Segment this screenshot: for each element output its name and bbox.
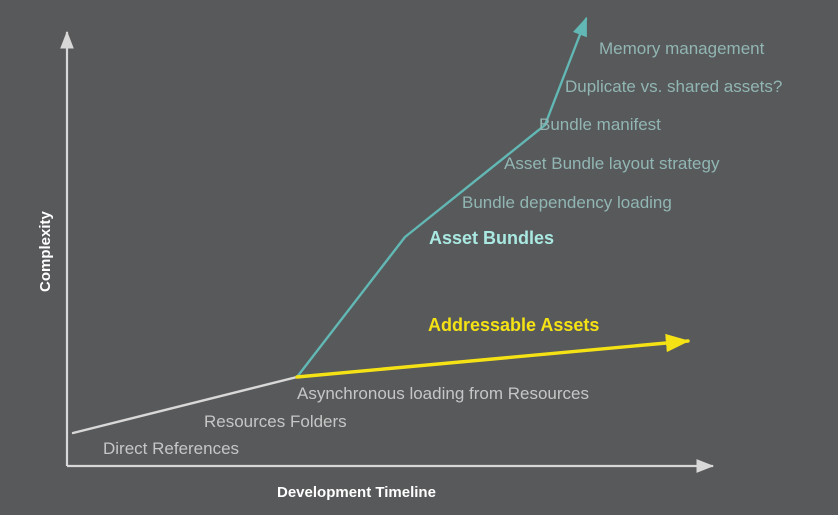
annotation-duplicate-vs-shared-assets: Duplicate vs. shared assets? [565, 78, 782, 95]
annotation-asset-bundle-layout-strategy: Asset Bundle layout strategy [504, 155, 719, 172]
annotation-bundle-dependency-loading: Bundle dependency loading [462, 194, 672, 211]
annotation-asynchronous-loading: Asynchronous loading from Resources [297, 385, 589, 402]
annotation-resources-folders: Resources Folders [204, 413, 347, 430]
y-axis-title: Complexity [38, 211, 53, 292]
annotation-direct-references: Direct References [103, 440, 239, 457]
annotation-bundle-manifest: Bundle manifest [539, 116, 661, 133]
series-addressable-assets-line [297, 341, 688, 377]
series-asset-bundles-arrow [545, 19, 586, 125]
annotation-asset-bundles: Asset Bundles [429, 229, 554, 247]
chart-canvas: Complexity Development Timeline Memory m… [0, 0, 838, 515]
x-axis-title: Development Timeline [277, 485, 436, 500]
annotation-addressable-assets: Addressable Assets [428, 316, 599, 334]
annotation-memory-management: Memory management [599, 40, 764, 57]
